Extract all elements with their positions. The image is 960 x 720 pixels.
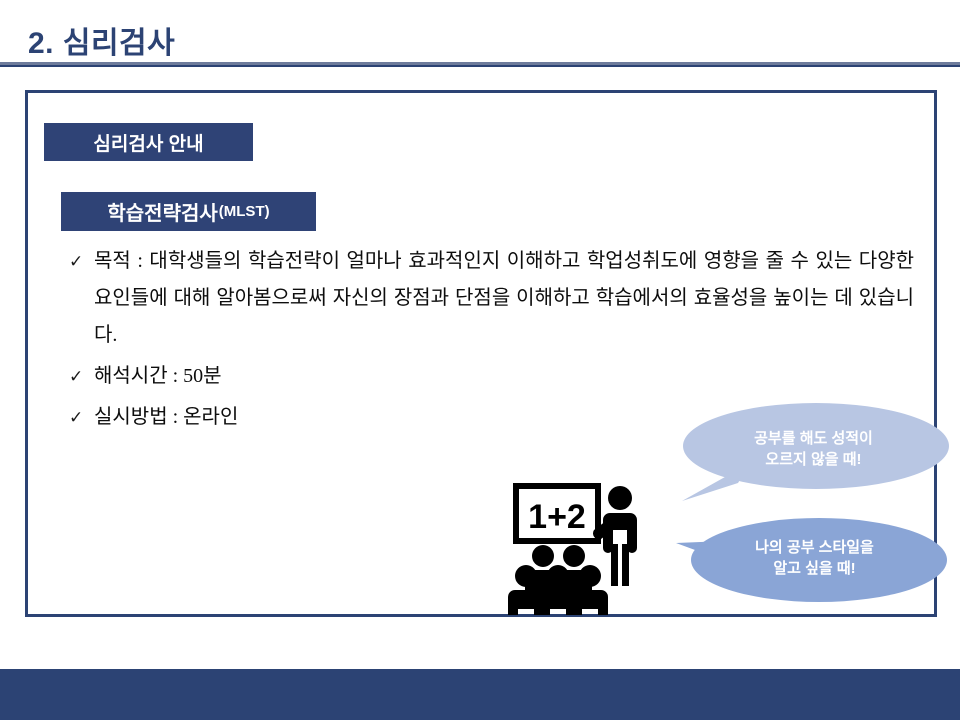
badge-psych-test-guide: 심리검사 안내: [44, 123, 253, 161]
list-item-text: 목적 : 대학생들의 학습전략이 얼마나 효과적인지 이해하고 학업성취도에 영…: [94, 243, 914, 354]
footer-bar: [0, 669, 960, 720]
list-item-text: 해석시간 : 50분: [94, 358, 914, 395]
check-icon: ✓: [66, 399, 94, 436]
title-divider: [0, 62, 960, 67]
check-icon: ✓: [66, 358, 94, 395]
content-panel: 심리검사 안내 학습전략검사(MLST) ✓ 목적 : 대학생들의 학습전략이 …: [25, 90, 937, 617]
list-item: ✓ 목적 : 대학생들의 학습전략이 얼마나 효과적인지 이해하고 학업성취도에…: [66, 243, 914, 354]
badge-mlst-abbrev: (MLST): [219, 203, 270, 220]
speech-bubble-study-grades: 공부를 해도 성적이 오르지 않을 때!: [664, 401, 949, 506]
board-equation-text: 1+2: [528, 498, 586, 536]
badge-mlst-label: 학습전략검사: [107, 197, 217, 226]
check-icon: ✓: [66, 243, 94, 280]
page-title: 2. 심리검사: [28, 18, 175, 62]
speech-bubble-study-style: 나의 공부 스타일을 알고 싶을 때!: [664, 508, 949, 608]
classroom-pictogram: 1+2: [498, 478, 683, 618]
badge-learning-strategy-test: 학습전략검사(MLST): [61, 192, 316, 231]
badge-guide-label: 심리검사 안내: [93, 129, 203, 156]
list-item: ✓ 해석시간 : 50분: [66, 358, 914, 395]
